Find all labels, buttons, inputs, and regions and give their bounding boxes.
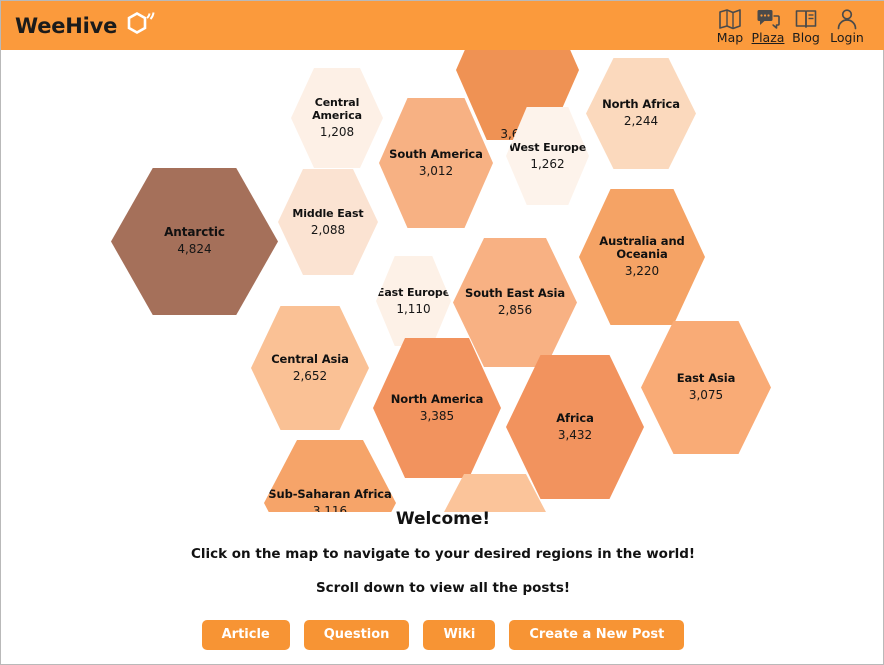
create-new-post-button[interactable]: Create a New Post	[509, 620, 684, 650]
hexagon-signal-logo-icon	[121, 7, 157, 45]
welcome-title: Welcome!	[1, 509, 884, 529]
article-button[interactable]: Article	[202, 620, 290, 650]
hex-region-count: 2,652	[293, 369, 327, 384]
hex-region-label: North Africa	[602, 98, 680, 111]
question-button[interactable]: Question	[304, 620, 410, 650]
hex-region[interactable]: North Africa2,244	[586, 58, 696, 169]
nav-label-map: Map	[717, 31, 743, 45]
nav-item-plaza[interactable]: Plaza	[749, 6, 787, 48]
welcome-instruction-map: Click on the map to navigate to your des…	[1, 545, 884, 563]
hex-region-count: 2,088	[311, 223, 345, 238]
brand-name: WeeHive	[15, 14, 117, 38]
hex-region-label: East Asia	[677, 372, 736, 385]
hex-region[interactable]: Central Asia2,652	[251, 306, 369, 430]
post-action-bar: Article Question Wiki Create a New Post	[1, 620, 884, 650]
hex-region-label: Central Asia	[271, 353, 349, 366]
welcome-instruction-scroll: Scroll down to view all the posts!	[1, 579, 884, 597]
hex-region-count: 1,208	[320, 125, 354, 140]
hex-region-label: Australia and Oceania	[579, 235, 705, 261]
hex-region-label: South America	[389, 148, 483, 161]
chat-icon	[756, 6, 780, 30]
nav-item-map[interactable]: Map	[711, 6, 749, 48]
site-header: WeeHive Map	[1, 1, 884, 50]
hex-region-label: North America	[391, 393, 483, 406]
hex-region-label: Central America	[291, 96, 383, 122]
nav-item-login[interactable]: Login	[825, 6, 869, 48]
hex-region-count: 2,856	[498, 303, 532, 318]
hex-region-label: Sub-Saharan Africa	[268, 488, 391, 501]
hex-region-count: 3,432	[558, 428, 592, 443]
hex-region[interactable]: Australia and Oceania3,220	[579, 189, 705, 325]
main-nav: Map Plaza	[711, 1, 869, 50]
welcome-block: Welcome! Click on the map to navigate to…	[1, 509, 884, 613]
nav-label-blog: Blog	[792, 31, 820, 45]
nav-label-login: Login	[830, 31, 864, 45]
hex-region-label: West Europe	[509, 141, 586, 154]
hex-region[interactable]: East Europe1,110	[376, 256, 451, 346]
hex-region[interactable]: Sub-Saharan Africa3,116	[264, 440, 396, 512]
hex-region-label: Antarctic	[164, 226, 225, 239]
hex-region-label: East Europe	[377, 286, 450, 299]
hex-region[interactable]: Middle East2,088	[278, 169, 378, 275]
hex-region-count: 3,012	[419, 164, 453, 179]
hex-region-count: 3,075	[689, 388, 723, 403]
hex-region-label: Middle East	[292, 207, 363, 220]
hex-region-count: 1,110	[396, 302, 430, 317]
hex-region[interactable]: Antarctic4,824	[111, 168, 278, 315]
hex-region[interactable]: Central America1,208	[291, 68, 383, 168]
hex-region-label: South East Asia	[465, 287, 565, 300]
wiki-button[interactable]: Wiki	[423, 620, 495, 650]
nav-item-blog[interactable]: Blog	[787, 6, 825, 48]
hex-region-label: Africa	[556, 412, 594, 425]
hex-region-count: 2,244	[624, 114, 658, 129]
map-icon	[718, 6, 742, 30]
user-icon	[835, 6, 859, 30]
hex-region[interactable]: East Asia3,075	[641, 321, 771, 454]
region-hex-map: Antarctic4,824Central America1,208Middle…	[1, 50, 884, 512]
book-icon	[794, 6, 818, 30]
hex-region[interactable]: South America3,012	[379, 98, 493, 228]
brand-logo[interactable]: WeeHive	[15, 6, 157, 45]
hex-region-count: 1,262	[530, 157, 564, 172]
hex-region-count: 3,220	[625, 264, 659, 279]
hex-region-count: 3,385	[420, 409, 454, 424]
hex-region-count: 4,824	[177, 242, 211, 257]
nav-label-plaza: Plaza	[752, 31, 785, 45]
